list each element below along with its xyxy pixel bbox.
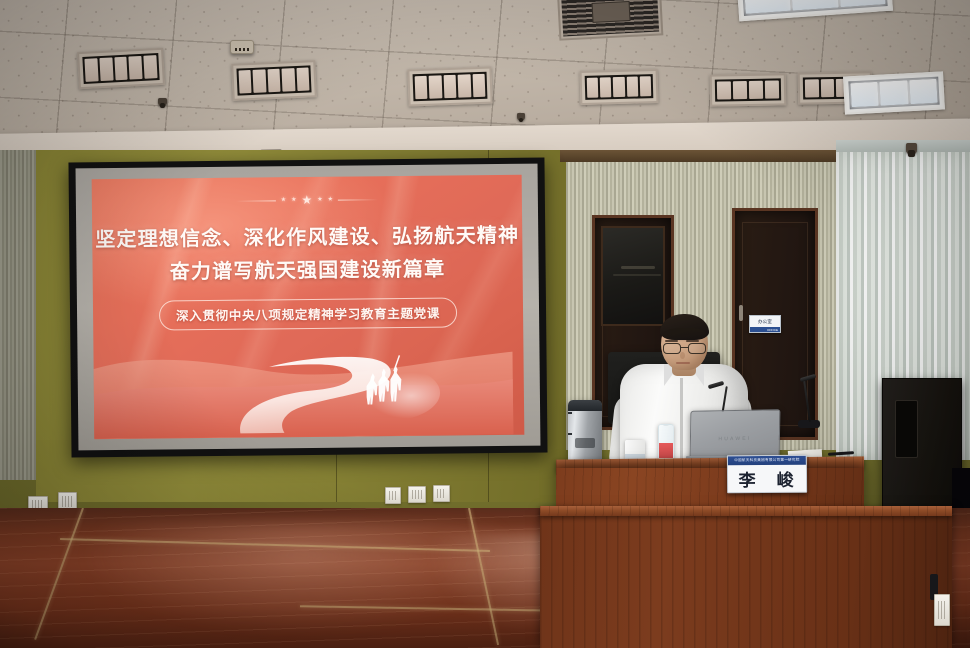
ceiling-light-fixture-off	[407, 67, 492, 107]
presenter-hair	[660, 314, 709, 340]
curtain-rail	[836, 140, 970, 152]
thermos-dispenser	[575, 438, 595, 448]
deco-line-left	[236, 200, 276, 201]
thermos-handle	[568, 412, 572, 435]
presenter-mouth	[676, 362, 690, 364]
smoke-detector-icon	[230, 40, 254, 54]
floor-power-strip[interactable]	[934, 594, 950, 626]
security-camera-icon	[906, 143, 917, 155]
ceiling-light-fixture-off	[580, 69, 659, 105]
podium	[540, 512, 952, 648]
ceiling-sensor-icon	[158, 98, 167, 107]
podium-top-edge	[540, 506, 952, 516]
water-thermos	[568, 400, 602, 462]
presentation-slide: ★ ★ ★ ★ ★ 坚定理想信念、深化作风建设、弘扬航天精神 奋力谱写航天强国建…	[92, 175, 524, 439]
speaker-port	[895, 400, 917, 458]
star-large-icon: ★	[301, 194, 312, 206]
star-small-icon: ★	[281, 197, 286, 203]
slide-star-decoration: ★ ★ ★ ★ ★	[92, 192, 522, 208]
presenter-eyebrow	[665, 340, 678, 342]
eyeglasses-icon	[662, 343, 707, 354]
wall-striped-panel	[0, 150, 38, 480]
projection-screen: ★ ★ ★ ★ ★ 坚定理想信念、深化作风建设、弘扬航天精神 奋力谱写航天强国建…	[68, 158, 547, 458]
deco-line-right	[338, 199, 378, 200]
star-small-icon: ★	[291, 197, 296, 203]
door-window	[601, 226, 665, 326]
conference-room-photo: 办公室 OFFICE	[0, 0, 970, 648]
thermos-lid	[568, 400, 602, 411]
presenter-eyebrow	[686, 340, 699, 342]
name-plate: 中国航天科技集团有限公司第一研究院 李 峻	[727, 455, 807, 494]
wall-power-outlet[interactable]	[433, 485, 450, 502]
ceiling-light-fixture-off	[710, 73, 787, 106]
slide-title-line-1: 坚定理想信念、深化作风建设、弘扬航天精神	[92, 220, 522, 255]
laptop-brand-label: HUAWEI	[691, 435, 779, 443]
wall-switch-plate[interactable]	[385, 487, 401, 504]
presenter-nose	[680, 352, 685, 359]
bottle-cap	[663, 424, 669, 426]
star-small-icon: ★	[317, 197, 322, 203]
name-plate-name: 李 峻	[728, 465, 806, 493]
wall-data-port[interactable]	[408, 486, 426, 503]
slide-text-block: ★ ★ ★ ★ ★ 坚定理想信念、深化作风建设、弘扬航天精神 奋力谱写航天强国建…	[92, 175, 523, 331]
hvac-air-diffuser	[557, 0, 664, 41]
slide-artwork-hills-and-road	[92, 315, 514, 439]
ceiling-light-fixture-off	[231, 60, 317, 101]
slide-title-line-2: 奋力谱写航天强国建设新篇章	[93, 253, 523, 288]
ceiling-light-fixture-off	[77, 48, 165, 89]
laptop-screen[interactable]: HUAWEI	[690, 409, 781, 461]
wall-trim	[560, 150, 836, 162]
projection-screen-surface: ★ ★ ★ ★ ★ 坚定理想信念、深化作风建设、弘扬航天精神 奋力谱写航天强国建…	[76, 164, 541, 451]
ceiling-sensor-icon	[517, 113, 525, 121]
bottle-label	[659, 443, 673, 457]
slide-subtitle-pill: 深入贯彻中央八项规定精神学习教育主题党课	[159, 298, 457, 331]
ceiling-light-fixture-on	[843, 71, 945, 114]
presenter-shirt-placket	[680, 378, 683, 468]
star-small-icon: ★	[328, 197, 333, 203]
